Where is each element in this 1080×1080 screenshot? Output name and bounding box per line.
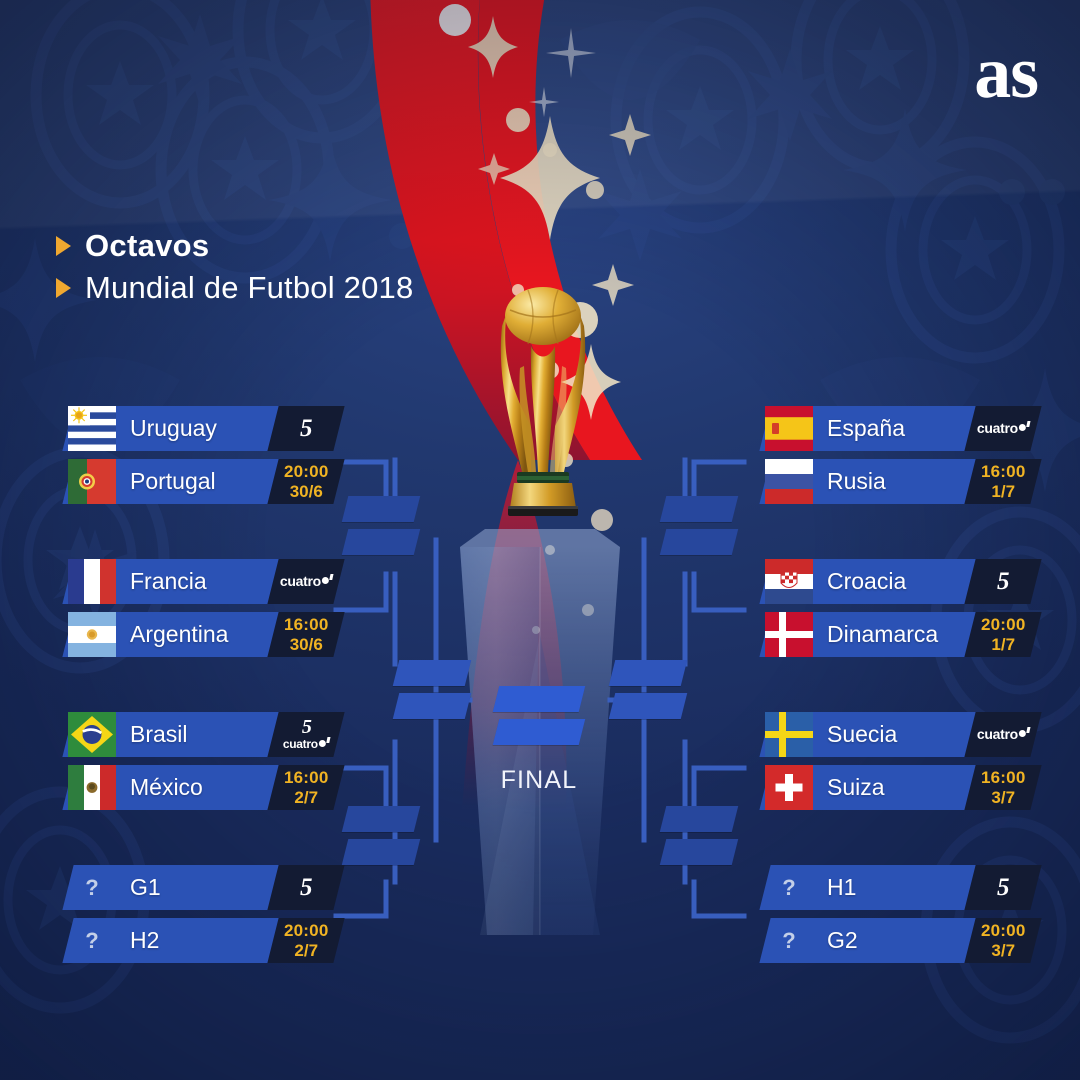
match-time: 20:00	[284, 922, 328, 939]
kickoff-badge: 20:00 30/6	[267, 459, 344, 504]
team-name: Argentina	[116, 621, 228, 648]
flag-argentina-icon	[68, 612, 116, 657]
channel-badge[interactable]: 5	[964, 559, 1041, 604]
team-name: G2	[813, 927, 858, 954]
cuatro-logo: cuatro	[280, 574, 333, 588]
quarterfinal-slot-left-top[interactable]	[345, 496, 417, 555]
flag-francia-icon	[68, 559, 116, 604]
match-time: 20:00	[981, 616, 1025, 633]
cuatro-logo: cuatro	[977, 727, 1030, 741]
slot-bar	[660, 529, 738, 555]
slot-bar	[342, 529, 420, 555]
telecinco-logo: 5	[302, 719, 311, 736]
match-g1-h2[interactable]: ? G1 5 ? H2 20:00 2/7	[68, 865, 333, 971]
page-subtitle: Mundial de Futbol 2018	[85, 270, 413, 306]
team-content: Brasil	[68, 712, 188, 757]
kickoff-badge: 20:00 3/7	[964, 918, 1041, 963]
telecinco-logo: 5	[997, 874, 1009, 901]
match-suecia-suiza[interactable]: Suecia cuatro Suiza 16:00 3/7	[765, 712, 1030, 818]
slot-bar	[393, 660, 471, 686]
kickoff-badge: 20:00 1/7	[964, 612, 1041, 657]
team-content: ? G2	[765, 918, 858, 963]
flag-uruguay-icon	[68, 406, 116, 451]
slot-bar	[493, 719, 585, 745]
slot-bar	[660, 496, 738, 522]
match-row-team-2[interactable]: Suiza 16:00 3/7	[765, 765, 1030, 810]
match-date: 30/6	[284, 636, 328, 653]
match-date: 1/7	[981, 483, 1025, 500]
match-francia-argentina[interactable]: Francia cuatro Argentina 16:00 30/6	[68, 559, 333, 665]
team-name: H1	[813, 874, 856, 901]
unknown-team-placeholder-icon: ?	[68, 918, 116, 963]
match-row-team-1[interactable]: ? G1 5	[68, 865, 333, 910]
channel-badge[interactable]: 5	[267, 406, 344, 451]
match-date: 30/6	[284, 483, 328, 500]
kickoff-badge: 20:00 2/7	[267, 918, 344, 963]
match-row-team-2[interactable]: Portugal 20:00 30/6	[68, 459, 333, 504]
match-time: 16:00	[284, 616, 328, 633]
title-main-row: Octavos	[56, 228, 413, 264]
kickoff-badge: 16:00 1/7	[964, 459, 1041, 504]
match-brasil-mexico[interactable]: Brasil 5 cuatro México 16:00 2/7	[68, 712, 333, 818]
semifinal-slot-right[interactable]	[612, 660, 684, 719]
team-name: G1	[116, 874, 161, 901]
team-name: H2	[116, 927, 159, 954]
kickoff-badge: 16:00 2/7	[267, 765, 344, 810]
team-content: ? H2	[68, 918, 159, 963]
match-row-team-1[interactable]: Suecia cuatro	[765, 712, 1030, 757]
match-row-team-1[interactable]: Croacia 5	[765, 559, 1030, 604]
match-espana-rusia[interactable]: España cuatro Rusia 16:00 1/7	[765, 406, 1030, 512]
flag-suecia-icon	[765, 712, 813, 757]
flag-espana-icon	[765, 406, 813, 451]
team-name: Uruguay	[116, 415, 217, 442]
flag-suiza-icon	[765, 765, 813, 810]
match-row-team-2[interactable]: Rusia 16:00 1/7	[765, 459, 1030, 504]
team-content: Suecia	[765, 712, 897, 757]
unknown-team-placeholder-icon: ?	[68, 865, 116, 910]
team-name: Brasil	[116, 721, 188, 748]
match-date: 3/7	[981, 942, 1025, 959]
final-label: FINAL	[449, 766, 629, 795]
title-block: Octavos Mundial de Futbol 2018	[56, 228, 413, 312]
cuatro-logo: cuatro	[283, 737, 330, 751]
channel-badge[interactable]: 5	[964, 865, 1041, 910]
match-time: 16:00	[284, 769, 328, 786]
slot-bar	[609, 693, 687, 719]
match-row-team-2[interactable]: Dinamarca 20:00 1/7	[765, 612, 1030, 657]
team-content: ? H1	[765, 865, 856, 910]
flag-mexico-icon	[68, 765, 116, 810]
team-content: Croacia	[765, 559, 906, 604]
match-time: 20:00	[981, 922, 1025, 939]
channel-badge[interactable]: 5 cuatro	[267, 712, 344, 757]
team-content: Dinamarca	[765, 612, 938, 657]
match-row-team-2[interactable]: Argentina 16:00 30/6	[68, 612, 333, 657]
telecinco-cuatro-logos: 5 cuatro	[283, 719, 330, 751]
team-name: Portugal	[116, 468, 216, 495]
match-time: 16:00	[981, 769, 1025, 786]
match-row-team-2[interactable]: ? G2 20:00 3/7	[765, 918, 1030, 963]
final-slot[interactable]	[496, 686, 582, 745]
team-name: Dinamarca	[813, 621, 938, 648]
flag-croacia-icon	[765, 559, 813, 604]
page-title: Octavos	[85, 228, 209, 264]
team-name: México	[116, 774, 203, 801]
triangle-bullet-icon	[56, 236, 71, 256]
match-row-team-1[interactable]: ? H1 5	[765, 865, 1030, 910]
team-content: Uruguay	[68, 406, 217, 451]
channel-badge[interactable]: cuatro	[964, 712, 1041, 757]
telecinco-logo: 5	[300, 415, 312, 442]
flag-rusia-icon	[765, 459, 813, 504]
telecinco-logo: 5	[300, 874, 312, 901]
as-logo: as	[974, 36, 1038, 110]
team-content: Suiza	[765, 765, 885, 810]
match-row-team-1[interactable]: Brasil 5 cuatro	[68, 712, 333, 757]
infographic-canvas: FINAL as Octavos Mundial de Futbol 2018	[0, 0, 1080, 1080]
match-row-team-1[interactable]: Francia cuatro	[68, 559, 333, 604]
unknown-team-placeholder-icon: ?	[765, 865, 813, 910]
match-croacia-dinamarca[interactable]: Croacia 5 Dinamarca 20:00 1/7	[765, 559, 1030, 665]
match-time: 16:00	[981, 463, 1025, 480]
slot-bar	[342, 839, 420, 865]
team-name: Croacia	[813, 568, 906, 595]
flag-dinamarca-icon	[765, 612, 813, 657]
slot-bar	[393, 693, 471, 719]
slot-bar	[660, 806, 738, 832]
channel-badge[interactable]: cuatro	[964, 406, 1041, 451]
flag-portugal-icon	[68, 459, 116, 504]
slot-bar	[342, 806, 420, 832]
title-sub-row: Mundial de Futbol 2018	[56, 270, 413, 306]
match-h1-g2[interactable]: ? H1 5 ? G2 20:00 3/7	[765, 865, 1030, 971]
match-date: 2/7	[284, 942, 328, 959]
channel-badge[interactable]: 5	[267, 865, 344, 910]
match-time: 20:00	[284, 463, 328, 480]
team-name: Suiza	[813, 774, 885, 801]
match-date: 3/7	[981, 789, 1025, 806]
team-content: México	[68, 765, 203, 810]
channel-badge[interactable]: cuatro	[267, 559, 344, 604]
telecinco-logo: 5	[997, 568, 1009, 595]
team-name: Francia	[116, 568, 207, 595]
match-row-team-1[interactable]: España cuatro	[765, 406, 1030, 451]
team-content: Rusia	[765, 459, 886, 504]
team-name: Rusia	[813, 468, 886, 495]
team-content: Portugal	[68, 459, 216, 504]
match-date: 2/7	[284, 789, 328, 806]
cuatro-logo: cuatro	[977, 421, 1030, 435]
slot-bar	[660, 839, 738, 865]
match-row-team-2[interactable]: México 16:00 2/7	[68, 765, 333, 810]
team-content: España	[765, 406, 905, 451]
kickoff-badge: 16:00 3/7	[964, 765, 1041, 810]
team-name: Suecia	[813, 721, 897, 748]
match-date: 1/7	[981, 636, 1025, 653]
match-row-team-2[interactable]: ? H2 20:00 2/7	[68, 918, 333, 963]
slot-bar	[342, 496, 420, 522]
kickoff-badge: 16:00 30/6	[267, 612, 344, 657]
semifinal-slot-left[interactable]	[396, 660, 468, 719]
team-content: Francia	[68, 559, 207, 604]
team-content: Argentina	[68, 612, 228, 657]
quarterfinal-slot-right-bottom[interactable]	[663, 806, 735, 865]
team-name: España	[813, 415, 905, 442]
unknown-team-placeholder-icon: ?	[765, 918, 813, 963]
triangle-bullet-icon	[56, 278, 71, 298]
slot-bar	[493, 686, 585, 712]
match-uruguay-portugal[interactable]: Uruguay 5 Portugal 20:00 30/6	[68, 406, 333, 512]
quarterfinal-slot-right-top[interactable]	[663, 496, 735, 555]
match-row-team-1[interactable]: Uruguay 5	[68, 406, 333, 451]
team-content: ? G1	[68, 865, 161, 910]
flag-brasil-icon	[68, 712, 116, 757]
quarterfinal-slot-left-bottom[interactable]	[345, 806, 417, 865]
slot-bar	[609, 660, 687, 686]
